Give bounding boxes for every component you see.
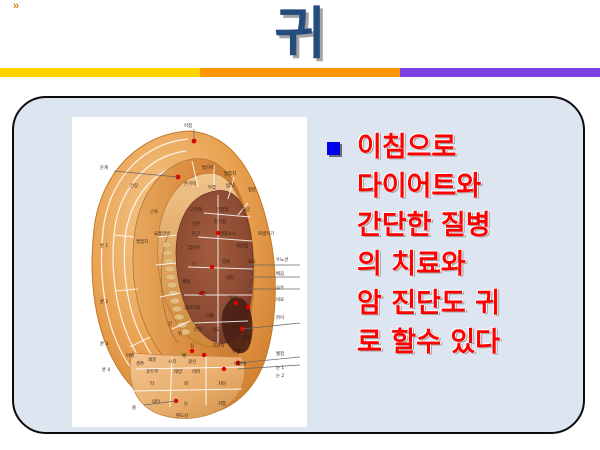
svg-text:손가락: 손가락 [184,180,196,187]
slide-canvas: » 귀 [0,0,600,450]
slide-title-area: 귀 [0,0,600,68]
svg-text:이마: 이마 [192,368,200,375]
svg-text:기관지: 기관지 [212,342,224,349]
svg-text:내분비: 내분비 [234,360,246,367]
svg-text:하행: 하행 [232,348,240,355]
svg-text:신: 신 [192,260,196,267]
svg-text:방울소스: 방울소스 [220,230,236,237]
svg-text:천식점: 천식점 [214,218,226,225]
svg-text:편도선: 편도선 [176,412,188,419]
svg-text:폐: 폐 [182,352,186,359]
svg-text:광선: 광선 [188,358,196,365]
svg-text:경추: 경추 [136,360,144,367]
page-title: 귀 [274,7,326,63]
svg-text:요도: 요도 [248,259,256,265]
svg-text:턱: 턱 [150,380,154,387]
svg-text:파이: 파이 [276,314,284,321]
svg-text:분문: 분문 [194,327,202,333]
svg-text:눈: 눈 [184,401,188,407]
svg-text:고관절: 고관절 [190,206,202,213]
svg-text:요총만골: 요총만골 [154,230,170,237]
bullet-text-block: 이침으로 다이어트와 간단한 질병 의 치료와 암 진단도 귀 로 할수 있다 [327,128,579,362]
svg-text:이흉: 이흉 [206,312,214,319]
svg-text:대장: 대장 [226,274,234,281]
svg-text:간염점: 간염점 [216,206,228,213]
svg-text:쇄골: 쇄골 [148,356,156,363]
svg-text:어깨: 어깨 [126,352,134,359]
svg-text:륜 4: 륜 4 [102,367,110,373]
svg-text:신문: 신문 [192,220,200,227]
svg-text:어첨: 어첨 [184,122,192,129]
svg-text:체점: 체점 [182,278,190,285]
ear-diagram-svg: 어첨 둔계 간장 발가락 발톱치 손가락 무릎 넓적 항문 근육 고관절 간염점… [72,117,307,427]
svg-text:항문: 항문 [248,186,256,193]
svg-text:넓적: 넓적 [226,182,234,189]
svg-text:시각: 시각 [168,358,176,365]
svg-text:치통: 치통 [218,400,226,407]
svg-text:륜 1: 륜 1 [100,243,108,249]
svg-text:후두부: 후두부 [146,369,158,375]
svg-text:눈 2: 눈 2 [276,373,284,379]
divider-segment-purple [400,68,600,77]
svg-text:혀: 혀 [184,380,188,387]
title-divider-bar [0,68,600,77]
svg-text:간: 간 [168,320,172,327]
divider-segment-orange [200,68,400,77]
svg-text:수뇨관: 수뇨관 [276,256,288,263]
svg-text:십이지장: 십이지장 [184,304,200,311]
svg-text:상악: 상악 [242,334,250,341]
svg-text:륜 2: 륜 2 [100,299,108,305]
content-panel: 어첨 둔계 간장 발가락 발톱치 손가락 무릎 넓적 항문 근육 고관절 간염점… [12,96,585,434]
svg-text:볼: 볼 [132,404,136,411]
svg-text:팔꿈치: 팔꿈치 [136,238,148,245]
svg-text:간장: 간장 [130,182,138,189]
svg-text:직장: 직장 [228,294,236,301]
svg-text:치아: 치아 [218,380,226,387]
svg-text:벨점: 벨점 [276,350,284,357]
svg-text:습수: 습수 [276,284,284,291]
svg-text:태양: 태양 [174,368,182,375]
svg-text:자궁: 자궁 [242,206,250,213]
svg-text:심: 심 [190,342,194,349]
svg-text:발톱치: 발톱치 [224,170,236,177]
svg-text:입: 입 [232,324,236,331]
svg-text:혈압점: 혈압점 [236,242,248,249]
svg-text:눈 1: 눈 1 [276,365,284,371]
svg-text:둔계: 둔계 [100,164,108,171]
svg-text:근육: 근육 [150,209,158,215]
divider-segment-yellow [0,68,200,77]
svg-text:외생식기: 외생식기 [258,230,274,237]
svg-text:배꼽: 배꼽 [276,270,284,277]
svg-text:위: 위 [178,330,182,337]
svg-text:발가락: 발가락 [202,164,214,171]
svg-text:소장: 소장 [198,290,206,297]
svg-text:엄덩이: 엄덩이 [188,244,200,251]
svg-text:륜 3: 륜 3 [100,341,108,347]
svg-text:비료: 비료 [276,296,284,303]
svg-text:식도: 식도 [212,326,220,333]
ear-acupuncture-diagram: 어첨 둔계 간장 발가락 발톱치 손가락 무릎 넓적 항문 근육 고관절 간염점… [72,117,307,427]
bullet-square-icon [327,142,340,155]
svg-text:무릎: 무릎 [208,185,216,191]
svg-text:방물: 방물 [222,258,230,265]
svg-text:둔근: 둔근 [192,231,200,237]
svg-text:내이: 내이 [152,398,160,405]
bullet-text: 이침으로 다이어트와 간단한 질병 의 치료와 암 진단도 귀 로 할수 있다 [357,128,500,362]
